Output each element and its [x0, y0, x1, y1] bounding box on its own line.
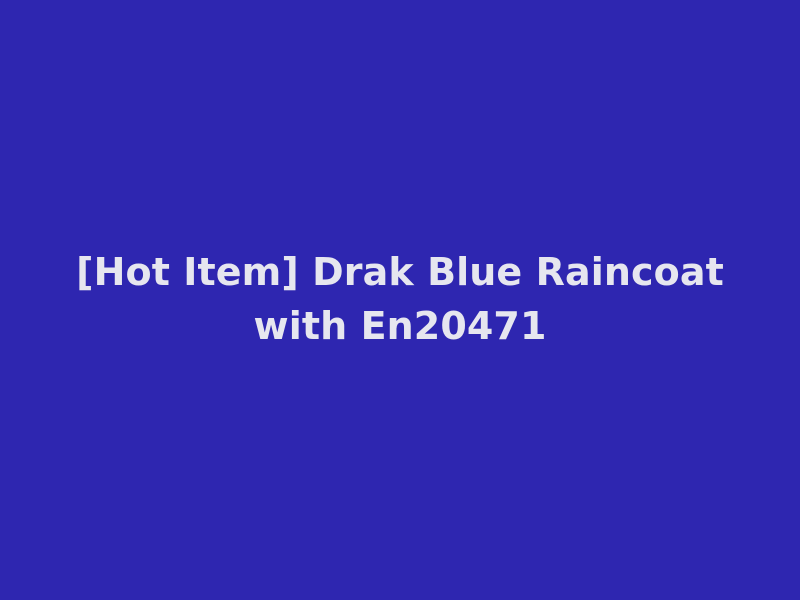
title-block: [Hot Item] Drak Blue Raincoat with En204…: [0, 245, 800, 353]
page-title: [Hot Item] Drak Blue Raincoat with En204…: [70, 245, 730, 353]
product-title-card: [Hot Item] Drak Blue Raincoat with En204…: [0, 0, 800, 600]
